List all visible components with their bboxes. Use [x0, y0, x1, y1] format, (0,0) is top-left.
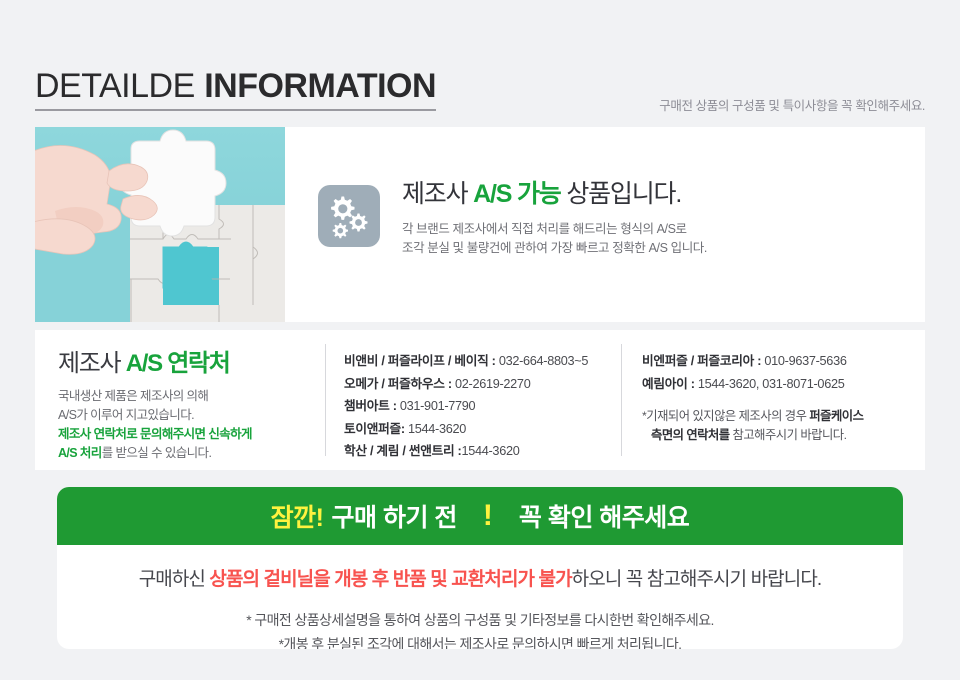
contact-heading-pre: 제조사: [58, 350, 126, 377]
warning-post: 하오니 꼭 참고해주시기 바랍니다.: [572, 569, 822, 590]
page-title-bold: INFORMATION: [204, 67, 436, 105]
contact-desc-line-3: 제조사 연락처로 문의해주시면 신속하게: [58, 427, 252, 441]
contact-name: 오메가 / 퍼즐하우스 :: [344, 377, 452, 391]
as-desc-line-2: 조각 분실 및 불량건에 관하여 가장 빠르고 정확한 A/S 입니다.: [402, 239, 707, 258]
photo-overlay-graphics: [35, 127, 285, 322]
contact-name: 비앤비 / 퍼즐라이프 / 베이직 :: [344, 354, 496, 368]
contact-desc-line-4-accent: A/S 처리: [58, 446, 102, 460]
contact-name: 토이앤퍼즐:: [344, 422, 405, 436]
puzzle-photo: [35, 127, 285, 322]
gears-icon: [318, 185, 380, 247]
notice-sub-line-2: *개봉 후 분실된 조각에 대해서는 제조사로 문의하시면 빠르게 처리됩니다.: [57, 633, 903, 649]
contact-row: 오메가 / 퍼즐하우스 : 02-2619-2270: [344, 373, 621, 396]
contact-phone: 010-9637-5636: [761, 354, 846, 368]
footnote-line-2: 측면의 연락처를 참고해주시기 바랍니다.: [642, 426, 925, 445]
contact-intro: 제조사 A/S 연락처 국내생산 제품은 제조사의 의해 A/S가 이루어 지고…: [35, 330, 325, 463]
footnote-pre: *기재되어 있지않은 제조사의 경우: [642, 409, 809, 423]
banner-white-text-2: 꼭 확인 해주세요: [519, 498, 689, 534]
purchase-notice-card: 잠깐! 구매 하기 전 ! 꼭 확인 해주세요 구매하신 상품의 겉비닐을 개봉…: [57, 487, 903, 649]
contact-row: 토이앤퍼즐: 1544-3620: [344, 418, 621, 441]
contact-phone: 031-901-7790: [397, 399, 476, 413]
contact-phone: 02-2619-2270: [452, 377, 531, 391]
contact-desc-line-2: A/S가 이루어 지고있습니다.: [58, 408, 194, 422]
contact-row: 비엔퍼즐 / 퍼즐코리아 : 010-9637-5636: [642, 350, 925, 373]
contact-row: 학산 / 계림 / 썬앤트리 :1544-3620: [344, 440, 621, 463]
contact-column-right: 비엔퍼즐 / 퍼즐코리아 : 010-9637-5636 예림아이 : 1544…: [622, 330, 925, 445]
contact-description: 국내생산 제품은 제조사의 의해 A/S가 이루어 지고있습니다. 제조사 연락…: [58, 387, 325, 463]
contact-desc-line-4-rest: 를 받으실 수 있습니다.: [102, 446, 212, 460]
as-available-heading: 제조사 A/S 가능 상품입니다.: [402, 177, 707, 211]
footnote-bold-2: 측면의 연락처를: [651, 428, 730, 442]
page-title: DETAILDE INFORMATION: [35, 66, 436, 111]
footnote-post: 참고해주시기 바랍니다.: [730, 428, 847, 442]
as-desc-line-1: 각 브랜드 제조사에서 직접 처리를 해드리는 형식의 A/S로: [402, 220, 707, 239]
as-available-copy: 제조사 A/S 가능 상품입니다. 각 브랜드 제조사에서 직접 처리를 해드리…: [402, 171, 707, 258]
contact-footnote: *기재되어 있지않은 제조사의 경우 퍼즐케이스 측면의 연락처를 참고해주시기…: [642, 407, 925, 445]
contact-row: 비앤비 / 퍼즐라이프 / 베이직 : 032-664-8803~5: [344, 350, 621, 373]
as-heading-accent: A/S 가능: [473, 180, 560, 208]
contact-phone: 032-664-8803~5: [496, 354, 589, 368]
notice-banner: 잠깐! 구매 하기 전 ! 꼭 확인 해주세요: [57, 487, 903, 545]
contact-name: 챔버아트 :: [344, 399, 397, 413]
as-contact-card: 제조사 A/S 연락처 국내생산 제품은 제조사의 의해 A/S가 이루어 지고…: [35, 330, 925, 470]
contact-column-mid: 비앤비 / 퍼즐라이프 / 베이직 : 032-664-8803~5 오메가 /…: [326, 330, 621, 463]
warning-pre: 구매하신: [139, 569, 210, 590]
return-policy-warning: 구매하신 상품의 겉비닐을 개봉 후 반품 및 교환처리가 불가하오니 꼭 참고…: [57, 567, 903, 593]
as-heading-pre: 제조사: [402, 180, 473, 208]
as-available-card: 제조사 A/S 가능 상품입니다. 각 브랜드 제조사에서 직접 처리를 해드리…: [35, 127, 925, 322]
header-note: 구매전 상품의 구성품 및 특이사항을 꼭 확인해주세요.: [659, 95, 925, 114]
contact-phone: 1544-3620: [461, 444, 519, 458]
page-title-thin: DETAILDE: [35, 67, 195, 105]
as-heading-post: 상품입니다.: [561, 180, 682, 208]
contact-desc-line-1: 국내생산 제품은 제조사의 의해: [58, 389, 208, 403]
banner-exclamation-icon: !: [483, 501, 493, 531]
contact-name: 학산 / 계림 / 썬앤트리 :: [344, 444, 461, 458]
contact-row: 챔버아트 : 031-901-7790: [344, 395, 621, 418]
contact-heading-accent: A/S 연락처: [126, 350, 230, 377]
contact-phone: 1544-3620, 031-8071-0625: [695, 377, 845, 391]
contact-phone: 1544-3620: [405, 422, 466, 436]
as-available-text: 제조사 A/S 가능 상품입니다. 각 브랜드 제조사에서 직접 처리를 해드리…: [285, 127, 925, 322]
footnote-bold-1: 퍼즐케이스: [809, 409, 863, 423]
contact-row: 예림아이 : 1544-3620, 031-8071-0625: [642, 373, 925, 396]
warning-highlight: 상품의 겉비닐을 개봉 후 반품 및 교환처리가 불가: [209, 569, 571, 590]
page-header: DETAILDE INFORMATION 구매전 상품의 구성품 및 특이사항을…: [35, 66, 925, 116]
detail-information-page: DETAILDE INFORMATION 구매전 상품의 구성품 및 특이사항을…: [0, 0, 960, 680]
notice-body: 구매하신 상품의 겉비닐을 개봉 후 반품 및 교환처리가 불가하오니 꼭 참고…: [57, 545, 903, 649]
notice-sub-line-1: * 구매전 상품상세설명을 통하여 상품의 구성품 및 기타정보를 다시한번 확…: [57, 609, 903, 631]
contact-name: 예림아이 :: [642, 377, 695, 391]
banner-white-text-1: 구매 하기 전: [332, 498, 457, 534]
banner-yellow-text: 잠깐!: [271, 498, 324, 534]
as-available-description: 각 브랜드 제조사에서 직접 처리를 해드리는 형식의 A/S로 조각 분실 및…: [402, 220, 707, 258]
contact-heading: 제조사 A/S 연락처: [58, 348, 325, 380]
contact-name: 비엔퍼즐 / 퍼즐코리아 :: [642, 354, 761, 368]
